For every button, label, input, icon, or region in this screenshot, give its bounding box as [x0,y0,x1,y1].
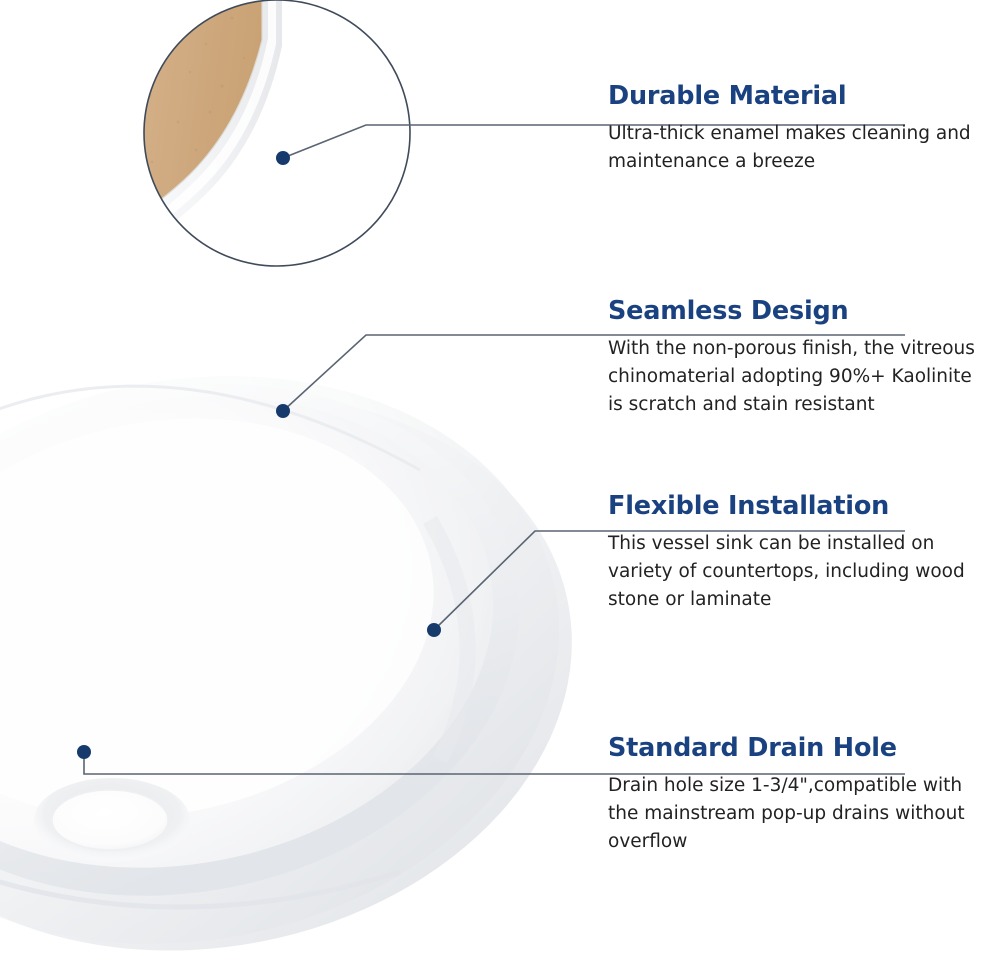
feature-title-seamless-design: Seamless Design [608,297,1000,326]
callout-dot-flexible-installation [427,623,441,637]
feature-body-flexible-installation: This vessel sink can be installed on var… [608,521,1000,614]
feature-body-durable-material: Ultra-thick enamel makes cleaning and ma… [608,111,1000,176]
vessel-sink-photo [0,312,620,968]
feature-body-line: This vessel sink can be installed on [608,530,1000,558]
feature-body-line: overflow [608,828,1000,856]
callout-dot-seamless-design [276,404,290,418]
feature-body-line: With the non-porous finish, the vitreous [608,335,1000,363]
feature-title-standard-drain-hole: Standard Drain Hole [608,734,1000,763]
feature-body-line: chinomaterial adopting 90%+ Kaolinite [608,363,1000,391]
feature-body-line: is scratch and stain resistant [608,391,1000,419]
callout-dot-durable-material [276,151,290,165]
feature-block-seamless-design: Seamless Design With the non-porous fini… [608,297,1000,419]
infographic-page: Durable Material Ultra-thick enamel make… [0,0,1000,968]
callout-dot-standard-drain-hole [77,745,91,759]
feature-body-line: variety of countertops, including wood [608,558,1000,586]
feature-body-line: Drain hole size 1-3/4",compatible with [608,772,1000,800]
feature-title-durable-material: Durable Material [608,82,1000,111]
feature-body-line: Ultra-thick enamel makes cleaning and [608,120,1000,148]
feature-title-flexible-installation: Flexible Installation [608,492,1000,521]
drain-hole [52,790,168,850]
enamel-cross-section-inset [0,0,410,300]
feature-body-line: stone or laminate [608,586,1000,614]
feature-body-line: the mainstream pop-up drains without [608,800,1000,828]
inner-enamel-layer [0,0,120,300]
feature-block-flexible-installation: Flexible Installation This vessel sink c… [608,492,1000,614]
feature-block-durable-material: Durable Material Ultra-thick enamel make… [608,82,1000,176]
feature-body-line: maintenance a breeze [608,148,1000,176]
feature-block-standard-drain-hole: Standard Drain Hole Drain hole size 1-3/… [608,734,1000,856]
feature-body-seamless-design: With the non-porous finish, the vitreous… [608,326,1000,419]
feature-body-standard-drain-hole: Drain hole size 1-3/4",compatible with t… [608,763,1000,856]
